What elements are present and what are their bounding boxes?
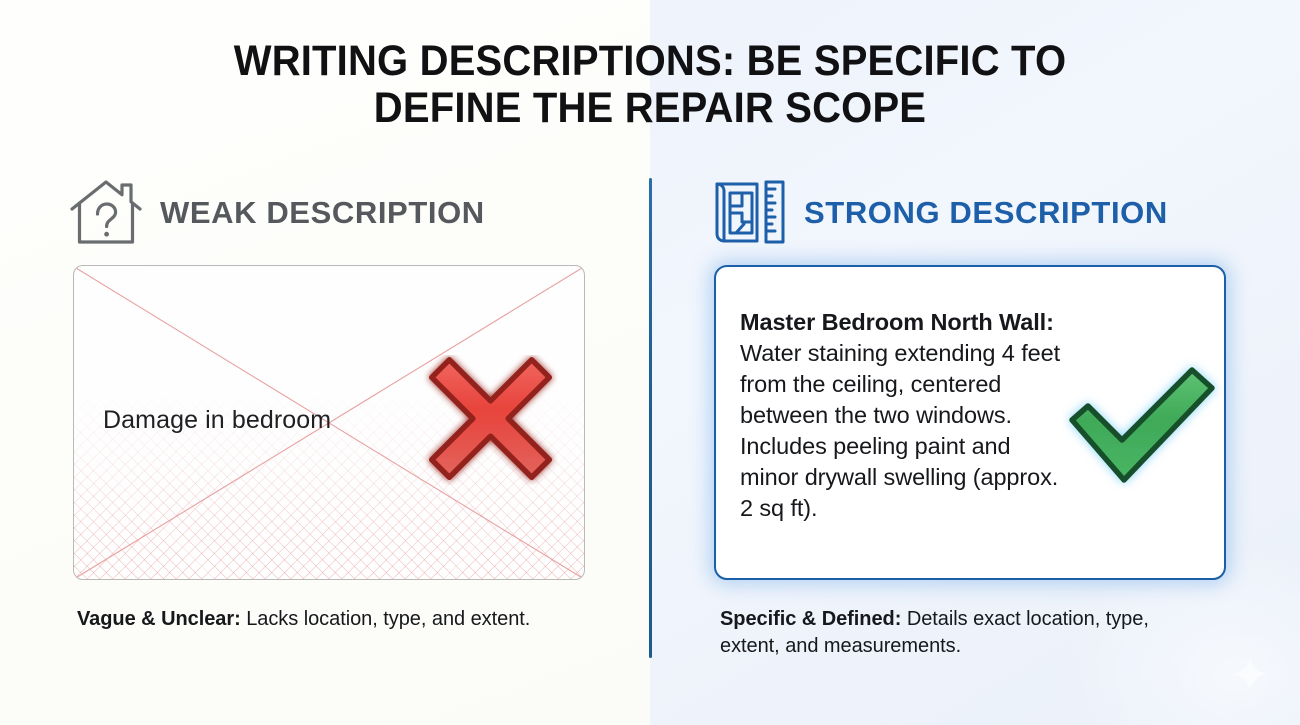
page-title-line-1: WRITING DESCRIPTIONS: BE SPECIFIC TO xyxy=(46,38,1255,85)
slide-root: WRITING DESCRIPTIONS: BE SPECIFIC TO DEF… xyxy=(0,0,1300,725)
weak-caption-bold: Vague & Unclear: xyxy=(77,608,241,630)
sparkle-icon xyxy=(1231,655,1269,693)
page-title-line-2: DEFINE THE REPAIR SCOPE xyxy=(46,85,1255,132)
strong-description-text: Master Bedroom North Wall: Water stainin… xyxy=(740,307,1075,524)
red-x-mark-icon xyxy=(418,355,568,485)
strong-column-heading: STRONG DESCRIPTION xyxy=(804,195,1168,231)
weak-column-heading: WEAK DESCRIPTION xyxy=(160,195,485,231)
strong-caption-bold: Specific & Defined: xyxy=(720,608,901,630)
weak-column-header: WEAK DESCRIPTION xyxy=(68,176,485,250)
blueprint-ruler-icon xyxy=(712,176,788,250)
strong-column-header: STRONG DESCRIPTION xyxy=(712,176,1168,250)
column-divider xyxy=(649,178,652,658)
strong-description-title: Master Bedroom North Wall: xyxy=(740,309,1054,335)
weak-caption: Vague & Unclear: Lacks location, type, a… xyxy=(77,606,637,633)
strong-description-body: Water staining extending 4 feet from the… xyxy=(740,340,1060,521)
house-question-icon xyxy=(68,176,144,250)
weak-caption-rest: Lacks location, type, and extent. xyxy=(241,608,531,630)
weak-description-text: Damage in bedroom xyxy=(103,406,331,435)
page-title: WRITING DESCRIPTIONS: BE SPECIFIC TO DEF… xyxy=(46,38,1255,132)
green-check-mark-icon xyxy=(1062,358,1222,490)
strong-caption: Specific & Defined: Details exact locati… xyxy=(720,606,1210,660)
